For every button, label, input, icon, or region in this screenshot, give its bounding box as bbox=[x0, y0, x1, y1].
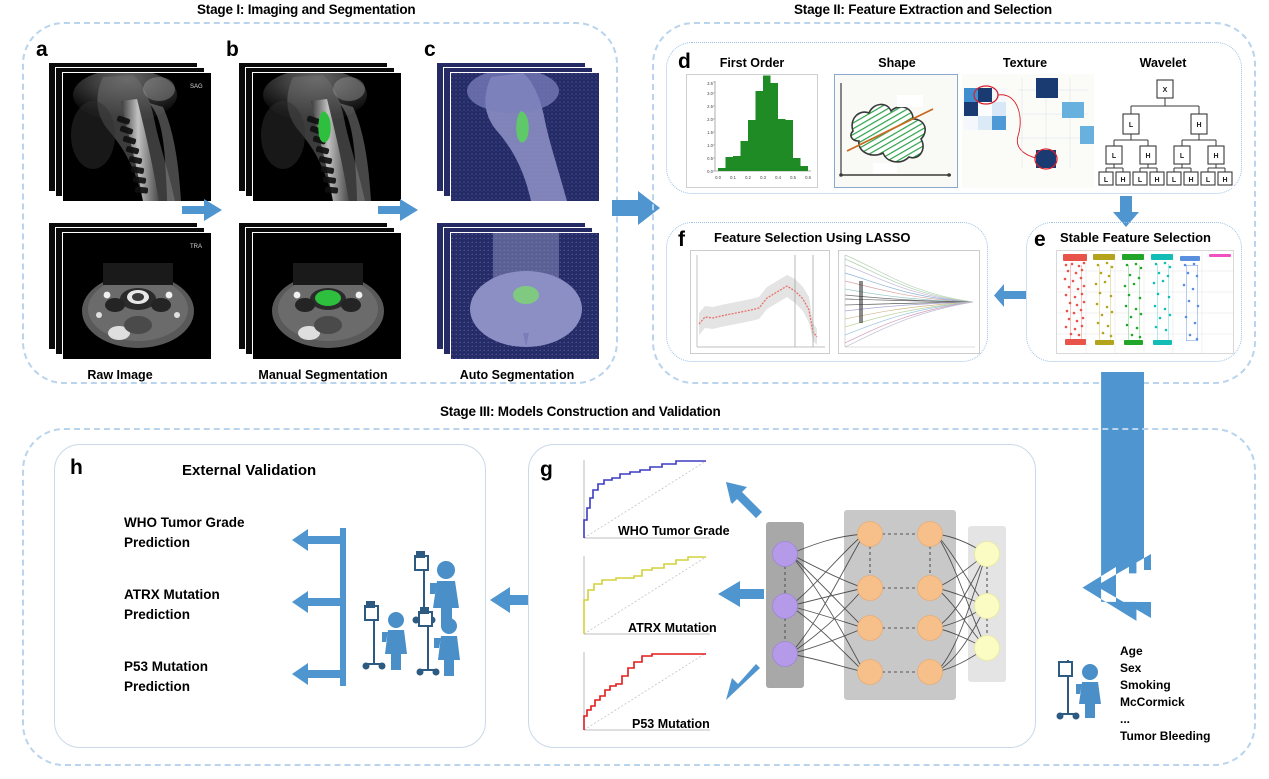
svg-text:L: L bbox=[1112, 153, 1117, 160]
svg-text:0.0: 0.0 bbox=[715, 175, 721, 180]
panel-c-caption: Auto Segmentation bbox=[428, 368, 606, 382]
svg-text:X: X bbox=[1163, 87, 1168, 94]
texture-graphic bbox=[962, 74, 1092, 186]
mri-axial-graphic bbox=[63, 233, 212, 360]
auto-roi-green-axial bbox=[513, 286, 539, 304]
clinical-variable-item: Sex bbox=[1120, 660, 1210, 677]
svg-text:0.2: 0.2 bbox=[745, 175, 751, 180]
svg-text:0.5: 0.5 bbox=[707, 156, 713, 161]
mri-axial-manual-graphic bbox=[253, 233, 402, 360]
svg-text:2.5: 2.5 bbox=[707, 104, 713, 109]
wavelet-node-l1: L H bbox=[1123, 114, 1207, 134]
roc-label-atrx: ATRX Mutation bbox=[628, 621, 717, 635]
iv-stand-1 bbox=[364, 602, 385, 669]
shape-title: Shape bbox=[842, 56, 952, 70]
modality-label-tra: TRA bbox=[190, 244, 202, 250]
texture-plot bbox=[962, 74, 1094, 188]
svg-text:3.5: 3.5 bbox=[707, 81, 713, 86]
panel-b-caption: Manual Segmentation bbox=[228, 368, 418, 382]
svg-text:0.0: 0.0 bbox=[707, 169, 713, 174]
panel-letter-a: a bbox=[36, 38, 48, 62]
roc-label-p53: P53 Mutation bbox=[632, 717, 710, 731]
prediction-label-atrx: ATRX Mutation Prediction bbox=[124, 585, 220, 624]
clinical-variable-item: ... bbox=[1120, 711, 1210, 728]
panel-letter-g: g bbox=[540, 458, 553, 482]
svg-text:H: H bbox=[1196, 122, 1201, 129]
patient-icon-1 bbox=[382, 612, 407, 670]
shape-graphic bbox=[835, 75, 957, 187]
scatter-group-6 bbox=[1209, 254, 1231, 257]
svg-text:1.0: 1.0 bbox=[707, 143, 713, 148]
lasso-title: Feature Selection Using LASSO bbox=[714, 230, 911, 245]
prediction-who-line1: WHO Tumor Grade bbox=[124, 513, 245, 533]
roi-green-axial bbox=[315, 290, 341, 306]
mri-sagittal-auto-graphic bbox=[451, 73, 600, 202]
neural-network-diagram bbox=[756, 496, 1014, 720]
svg-text:L: L bbox=[1172, 177, 1177, 184]
arrow-stable-to-lasso bbox=[994, 283, 1026, 309]
panel-letter-h: h bbox=[70, 456, 83, 480]
svg-text:L: L bbox=[1180, 153, 1185, 160]
mri-axial-raw bbox=[62, 232, 212, 360]
mri-sagittal-manual bbox=[252, 72, 402, 202]
panel-letter-c: c bbox=[424, 38, 436, 62]
svg-text:L: L bbox=[1129, 122, 1134, 129]
clinical-variables-list: Age Sex Smoking McCormick ... Tumor Blee… bbox=[1120, 643, 1210, 745]
svg-text:H: H bbox=[1213, 153, 1218, 160]
prediction-atrx-line2: Prediction bbox=[124, 605, 220, 625]
wavelet-node-l2: L H L H bbox=[1106, 146, 1224, 164]
mri-axial-manual bbox=[252, 232, 402, 360]
manual-seg-axial-stack bbox=[238, 222, 406, 362]
clinical-variable-item: Tumor Bleeding bbox=[1120, 728, 1210, 745]
svg-text:H: H bbox=[1154, 177, 1159, 184]
panel-a-caption: Raw Image bbox=[60, 368, 180, 382]
arrow-raw-to-manual bbox=[182, 198, 224, 224]
arrow-to-p53 bbox=[292, 663, 340, 685]
svg-text:L: L bbox=[1138, 177, 1143, 184]
histogram-graphic: 0.00.51.0 1.52.02.5 3.03.5 0.00.10.2 0.3… bbox=[687, 75, 817, 187]
prediction-label-who: WHO Tumor Grade Prediction bbox=[124, 513, 245, 552]
nn-output-nodes bbox=[773, 542, 798, 667]
mri-axial-auto-graphic bbox=[451, 233, 600, 360]
mri-axial-auto bbox=[450, 232, 600, 360]
glcm-small-matrix bbox=[964, 88, 1006, 130]
stage-1-title: Stage I: Imaging and Segmentation bbox=[197, 2, 415, 17]
svg-text:H: H bbox=[1120, 177, 1125, 184]
wavelet-tree-plot: X L H L H L H L H L H L H L H bbox=[1098, 74, 1234, 188]
nn-input-nodes bbox=[975, 542, 1000, 661]
mri-sagittal-manual-graphic bbox=[253, 73, 402, 202]
lasso-cv-graphic bbox=[691, 251, 829, 353]
svg-text:0.3: 0.3 bbox=[760, 175, 766, 180]
first-order-title: First Order bbox=[696, 56, 808, 70]
panel-letter-e: e bbox=[1034, 228, 1046, 252]
prediction-label-p53: P53 Mutation Prediction bbox=[124, 657, 208, 696]
clinical-patient-icon bbox=[1054, 660, 1118, 722]
svg-text:0.4: 0.4 bbox=[775, 175, 781, 180]
auto-seg-axial-stack bbox=[436, 222, 604, 362]
wavelet-node-root: X bbox=[1157, 80, 1173, 98]
clinical-variable-item: Smoking bbox=[1120, 677, 1210, 694]
modality-label-sag: SAG bbox=[190, 84, 203, 90]
auto-seg-sagittal-stack bbox=[436, 62, 604, 204]
manual-seg-sagittal-stack bbox=[238, 62, 406, 204]
lasso-paths-graphic bbox=[839, 251, 979, 353]
lasso-coefficient-paths bbox=[838, 250, 980, 354]
arrow-to-who bbox=[292, 529, 340, 551]
stable-feature-selection-title: Stable Feature Selection bbox=[1060, 230, 1211, 245]
lasso-cv-curve bbox=[690, 250, 830, 354]
prediction-p53-line1: P53 Mutation bbox=[124, 657, 208, 677]
stage-2-title: Stage II: Feature Extraction and Selecti… bbox=[794, 2, 1052, 17]
roc-label-who: WHO Tumor Grade bbox=[618, 524, 730, 538]
panel-letter-d: d bbox=[678, 50, 691, 74]
shape-plot bbox=[834, 74, 958, 188]
prediction-p53-line2: Prediction bbox=[124, 677, 208, 697]
raw-image-axial-stack: TRA bbox=[48, 222, 216, 362]
patient-icons-group bbox=[362, 542, 484, 686]
svg-text:3.0: 3.0 bbox=[707, 91, 713, 96]
svg-text:0.1: 0.1 bbox=[730, 175, 736, 180]
wavelet-title: Wavelet bbox=[1108, 56, 1218, 70]
mri-sagittal-auto bbox=[450, 72, 600, 202]
clinical-variable-item: Age bbox=[1120, 643, 1210, 660]
first-order-histogram: 0.00.51.0 1.52.02.5 3.03.5 0.00.10.2 0.3… bbox=[686, 74, 818, 188]
panel-letter-f: f bbox=[678, 228, 685, 252]
wavelet-node-l3: L H L H L H L H bbox=[1099, 172, 1232, 185]
panel-letter-b: b bbox=[226, 38, 239, 62]
wavelet-tree-graphic: X L H L H L H L H L H L H L H bbox=[1098, 74, 1232, 186]
stable-feature-selection-plot bbox=[1056, 250, 1234, 354]
arrow-manual-to-auto bbox=[378, 198, 420, 224]
clinical-variable-item: McCormick bbox=[1120, 694, 1210, 711]
svg-text:L: L bbox=[1104, 177, 1109, 184]
svg-text:H: H bbox=[1145, 153, 1150, 160]
patient-icon-2 bbox=[430, 561, 459, 626]
svg-text:2.0: 2.0 bbox=[707, 117, 713, 122]
mri-sagittal-graphic bbox=[63, 73, 212, 202]
svg-text:1.5: 1.5 bbox=[707, 130, 713, 135]
external-validation-title: External Validation bbox=[182, 462, 316, 479]
texture-title: Texture bbox=[972, 56, 1078, 70]
stable-selection-graphic bbox=[1057, 251, 1233, 353]
svg-text:0.5: 0.5 bbox=[790, 175, 796, 180]
svg-text:H: H bbox=[1188, 177, 1193, 184]
stage-3-title: Stage III: Models Construction and Valid… bbox=[440, 404, 721, 419]
prediction-atrx-line1: ATRX Mutation bbox=[124, 585, 220, 605]
svg-text:0.6: 0.6 bbox=[805, 175, 811, 180]
mri-sagittal-raw bbox=[62, 72, 212, 202]
patient-icon-3 bbox=[434, 618, 460, 676]
prediction-bracket bbox=[292, 528, 372, 688]
prediction-who-line2: Prediction bbox=[124, 533, 245, 553]
svg-text:H: H bbox=[1222, 177, 1227, 184]
arrow-to-atrx bbox=[292, 591, 340, 613]
raw-image-sagittal-stack: SAG bbox=[48, 62, 216, 204]
svg-text:L: L bbox=[1206, 177, 1211, 184]
